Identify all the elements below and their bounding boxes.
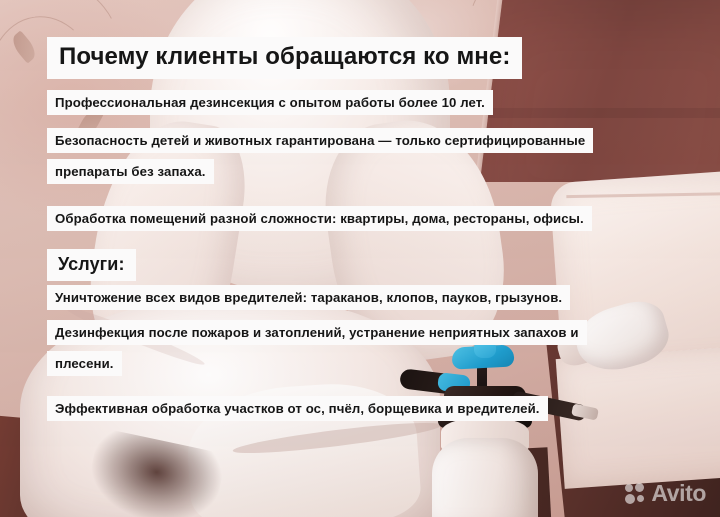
- benefit-line: Профессиональная дезинсекция с опытом ра…: [47, 90, 493, 115]
- avito-wordmark: Avito: [651, 482, 706, 505]
- service-line: Эффективная обработка участков от ос, пч…: [47, 396, 548, 421]
- avito-ad-image: Почему клиенты обращаются ко мне: Профес…: [0, 0, 720, 517]
- benefit-line: препараты без запаха.: [47, 159, 214, 184]
- text-overlay: Почему клиенты обращаются ко мне: Профес…: [0, 0, 720, 517]
- avito-dots-logo-icon: [625, 483, 646, 504]
- service-line: Дезинфекция после пожаров и затоплений, …: [47, 320, 587, 345]
- benefit-line: Безопасность детей и животных гарантиров…: [47, 128, 593, 153]
- benefit-line: Обработка помещений разной сложности: кв…: [47, 206, 592, 231]
- service-line: Уничтожение всех видов вредителей: тарак…: [47, 285, 570, 310]
- services-heading: Услуги:: [47, 249, 136, 281]
- service-line: плесени.: [47, 351, 122, 376]
- avito-watermark: Avito: [625, 482, 706, 505]
- headline: Почему клиенты обращаются ко мне:: [47, 37, 522, 79]
